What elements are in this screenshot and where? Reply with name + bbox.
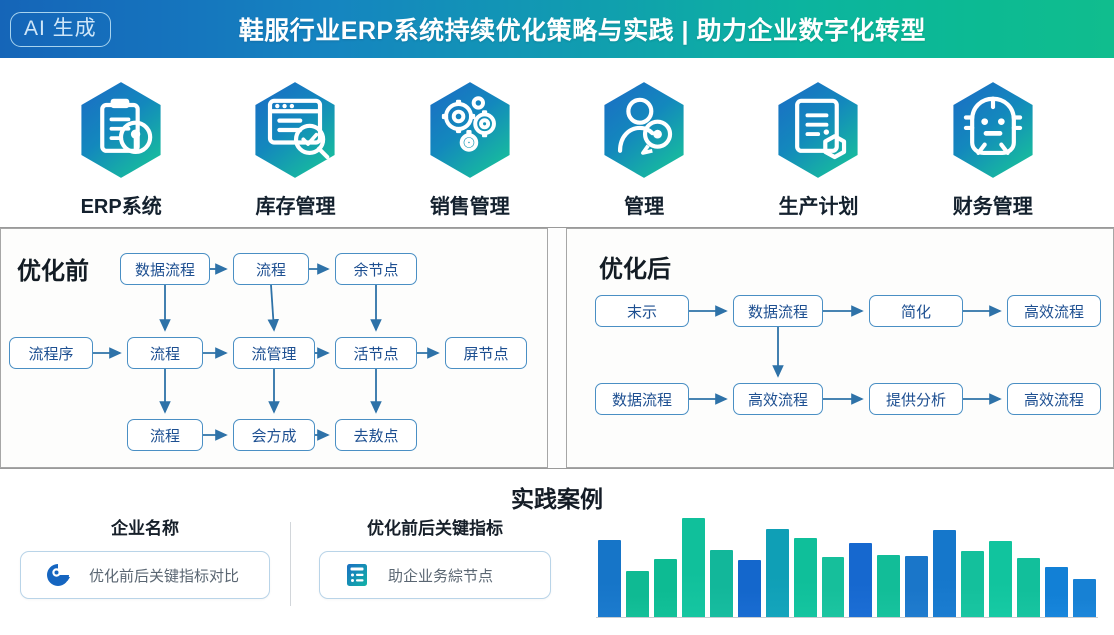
chart-bar	[933, 530, 956, 617]
case-column-company: 企业名称 优化前后关键指标对比	[0, 514, 290, 635]
feature-icon-2[interactable]: 库存管理	[220, 80, 370, 219]
chart-bar	[849, 543, 872, 617]
chart-bar	[1073, 579, 1096, 617]
poster-root: AI 生成 鞋服行业ERP系统持续优化策略与实践 | 助力企业数字化转型 ERP…	[0, 0, 1114, 635]
case-card-business-nodes[interactable]: 助企业务綜节点	[319, 551, 551, 599]
chart-bar	[877, 555, 900, 617]
chart-bar	[598, 540, 621, 617]
chart-bar	[766, 529, 789, 617]
robot-icon	[947, 80, 1039, 180]
flow-node[interactable]: 流程	[233, 253, 309, 285]
chart-bars	[598, 513, 1096, 617]
user-gear-icon	[598, 80, 690, 180]
chart-bar	[738, 560, 761, 617]
page-title: 鞋服行业ERP系统持续优化策略与实践 | 助力企业数字化转型	[111, 11, 1054, 47]
feature-icon-row: ERP系统 库存管理	[0, 58, 1114, 227]
chart-bar	[905, 556, 928, 617]
chart-bar	[989, 541, 1012, 617]
flow-node[interactable]: 活节点	[335, 337, 417, 369]
clipboard-search-icon	[75, 80, 167, 180]
flow-panel-before: 优化前 数据流程流程余节点流程序流程流管理活节点屏节点流程会方成去敖点	[0, 228, 548, 468]
page-header: AI 生成 鞋服行业ERP系统持续优化策略与实践 | 助力企业数字化转型	[0, 0, 1114, 58]
chart-bar	[794, 538, 817, 617]
feature-icon-5[interactable]: 生产计划	[743, 80, 893, 219]
chart-bar	[1045, 567, 1068, 617]
flow-before-title: 优化前	[17, 251, 89, 286]
flow-node[interactable]: 提供分析	[869, 383, 963, 415]
flow-node[interactable]: 高效流程	[1007, 383, 1101, 415]
flow-node[interactable]: 会方成	[233, 419, 315, 451]
feature-icon-label: 销售管理	[430, 190, 510, 219]
document-badge-icon	[772, 80, 864, 180]
case-card-label: 助企业务綜节点	[388, 565, 493, 586]
list-grid-icon	[342, 560, 372, 590]
chart-bar	[682, 518, 705, 617]
feature-icon-label: ERP系统	[81, 190, 162, 219]
flow-node[interactable]: 流程序	[9, 337, 93, 369]
flow-node[interactable]: 简化	[869, 295, 963, 327]
case-column-title: 优化前后关键指标	[367, 514, 503, 539]
feature-icon-3[interactable]: 销售管理	[395, 80, 545, 219]
chart-bar	[1017, 558, 1040, 617]
flow-node[interactable]: 高效流程	[733, 383, 823, 415]
feature-icon-1[interactable]: ERP系统	[46, 80, 196, 219]
flow-node[interactable]: 余节点	[335, 253, 417, 285]
chart-bar	[626, 571, 649, 617]
metrics-bar-chart	[588, 499, 1106, 627]
flow-node[interactable]: 去敖点	[335, 419, 417, 451]
case-column-metrics: 优化前后关键指标	[290, 514, 580, 635]
flow-node[interactable]: 高效流程	[1007, 295, 1101, 327]
chart-bar	[822, 557, 845, 617]
flow-node[interactable]: 屏节点	[445, 337, 527, 369]
feature-icon-label: 财务管理	[953, 190, 1033, 219]
feature-icon-6[interactable]: 财务管理	[918, 80, 1068, 219]
flow-node[interactable]: 数据流程	[733, 295, 823, 327]
chart-baseline	[596, 617, 1098, 619]
ai-generated-badge: AI 生成	[10, 12, 111, 47]
flow-panel-after: 优化后 末示数据流程简化高效流程数据流程高效流程提供分析高效流程	[566, 228, 1114, 468]
gears-icon	[424, 80, 516, 180]
flow-node[interactable]: 流程	[127, 337, 203, 369]
flow-node[interactable]: 流程	[127, 419, 203, 451]
flow-node[interactable]: 数据流程	[120, 253, 210, 285]
case-column-title: 企业名称	[111, 514, 179, 539]
case-card-metric-compare[interactable]: 优化前后关键指标对比	[20, 551, 270, 599]
window-check-search-icon	[249, 80, 341, 180]
flow-comparison-area: 优化前 数据流程流程余节点流程序流程流管理活节点屏节点流程会方成去敖点 优化后 …	[0, 228, 1114, 468]
chart-bar	[654, 559, 677, 617]
flow-node[interactable]: 数据流程	[595, 383, 689, 415]
chart-bar	[961, 551, 984, 617]
flow-node[interactable]: 末示	[595, 295, 689, 327]
case-card-label: 优化前后关键指标对比	[89, 565, 239, 586]
case-columns: 企业名称 优化前后关键指标对比 优化前后关键指标	[0, 514, 580, 635]
case-study-section: 实践案例 企业名称 优化前后关键指标对比	[0, 469, 1114, 635]
chart-bar	[710, 550, 733, 617]
feature-icon-label: 管理	[624, 190, 664, 219]
pie-chart-icon	[43, 560, 73, 590]
feature-icon-4[interactable]: 管理	[569, 80, 719, 219]
feature-icon-label: 生产计划	[778, 190, 858, 219]
flow-node[interactable]: 流管理	[233, 337, 315, 369]
flow-after-title: 优化后	[599, 249, 671, 284]
feature-icon-label: 库存管理	[255, 190, 335, 219]
